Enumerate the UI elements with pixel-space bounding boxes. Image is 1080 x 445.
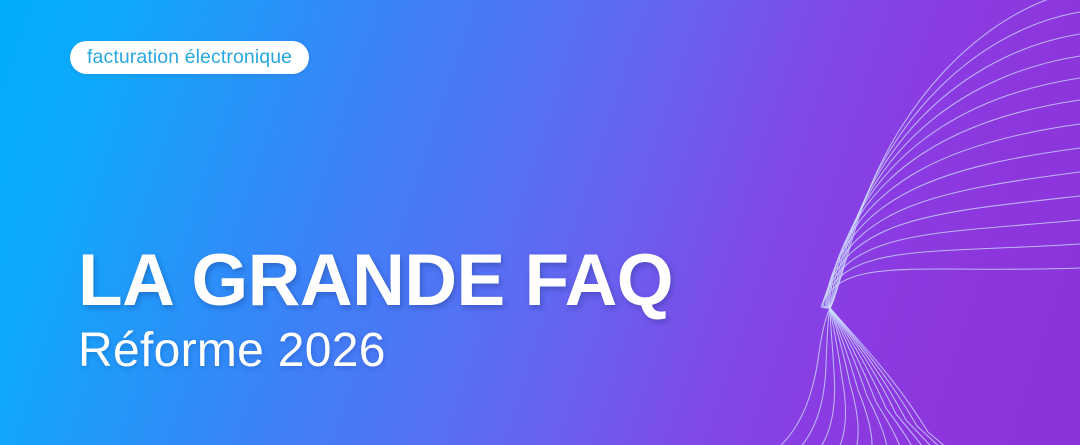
category-badge: facturation électronique [70, 41, 309, 74]
category-badge-label: facturation électronique [87, 48, 292, 68]
headline-block: LA GRANDE FAQ Réforme 2026 [78, 246, 673, 375]
page-subtitle: Réforme 2026 [78, 327, 673, 375]
faq-hero-banner: facturation électronique LA GRANDE FAQ R… [0, 0, 1080, 445]
page-title: LA GRANDE FAQ [78, 246, 673, 315]
wave-line-group-upper [821, 0, 1080, 308]
wave-line-group-lower [742, 308, 1004, 445]
